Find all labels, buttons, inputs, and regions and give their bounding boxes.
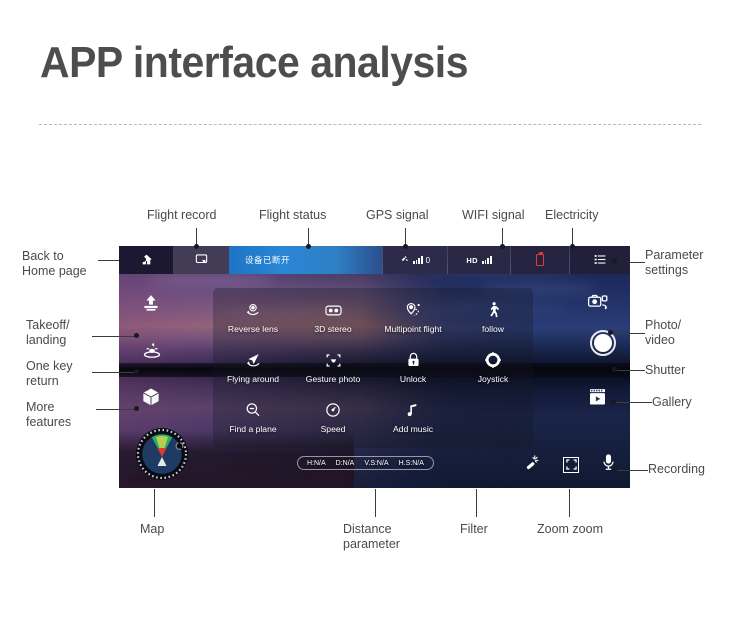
list-settings-icon <box>593 253 607 268</box>
annotation-electricity: Electricity <box>545 208 598 223</box>
annotation-distance-parameter: Distance parameter <box>343 522 400 552</box>
gps-signal-indicator: 0 <box>383 246 447 274</box>
flight-status-bar: 设备已断开 <box>229 246 382 274</box>
feature-label: Reverse lens <box>228 324 278 334</box>
feature-multipoint-flight[interactable]: Multipoint flight <box>373 299 453 349</box>
home-button[interactable] <box>119 246 173 274</box>
annotation-gps-signal: GPS signal <box>366 208 429 223</box>
gallery-button[interactable] <box>587 387 608 412</box>
feature-label: follow <box>482 324 504 334</box>
feature-label: Multipoint flight <box>384 324 441 334</box>
battery-empty-icon <box>536 254 544 266</box>
zoom-button[interactable] <box>563 457 579 473</box>
leader-dot <box>613 467 618 472</box>
feature-unlock[interactable]: Unlock <box>373 349 453 399</box>
recording-button[interactable] <box>601 453 616 476</box>
app-screen: 设备已断开 0 HD <box>119 246 630 488</box>
leader-line <box>154 489 155 517</box>
leader-line <box>476 489 477 517</box>
leader-dot <box>194 244 199 249</box>
reverse-lens-icon <box>244 299 262 321</box>
map-radar[interactable] <box>134 426 190 482</box>
feature-3d-stereo[interactable]: 3D stereo <box>293 299 373 349</box>
feature-label: Speed <box>321 424 346 434</box>
leader-line <box>616 470 648 471</box>
feature-add-music[interactable]: Add music <box>373 399 453 449</box>
leader-dot <box>570 244 575 249</box>
leader-dot <box>611 399 616 404</box>
annotation-wifi-signal: WIFI signal <box>462 208 525 223</box>
feature-label: Joystick <box>478 374 509 384</box>
speedometer-icon <box>324 399 342 421</box>
feature-flying-around[interactable]: Flying around <box>213 349 293 399</box>
annotation-flight-status: Flight status <box>259 208 326 223</box>
flight-status-text: 设备已断开 <box>245 254 290 266</box>
leader-dot <box>612 259 617 264</box>
leader-dot <box>608 330 613 335</box>
annotation-shutter: Shutter <box>645 363 685 378</box>
annotation-photo-video: Photo/ video <box>645 318 681 348</box>
annotation-gallery: Gallery <box>652 395 692 410</box>
annotation-map: Map <box>140 522 164 537</box>
annotation-filter: Filter <box>460 522 488 537</box>
distance-h: H:N/A <box>307 460 326 467</box>
distance-d: D:N/A <box>336 460 355 467</box>
leader-dot <box>612 367 617 372</box>
feature-row: Reverse lens 3D stereo <box>213 299 533 349</box>
flight-record-icon <box>195 253 208 268</box>
takeoff-landing-button[interactable] <box>141 293 161 318</box>
waypoint-pin-icon <box>404 299 423 321</box>
top-status-bar: 设备已断开 0 HD <box>119 246 630 274</box>
annotation-one-key-return: One key return <box>26 359 73 389</box>
orbit-paperplane-icon <box>244 349 263 371</box>
leader-line <box>569 489 570 517</box>
feature-joystick[interactable]: Joystick <box>453 349 533 399</box>
joystick-ring-icon <box>484 349 502 371</box>
page-title: APP interface analysis <box>40 38 468 88</box>
magnifier-minus-icon <box>244 399 262 421</box>
annotation-takeoff-landing: Takeoff/ landing <box>26 318 70 348</box>
feature-label: 3D stereo <box>314 324 351 334</box>
vr-goggles-icon <box>324 299 343 321</box>
feature-row: Find a plane Speed Add music <box>213 399 533 449</box>
feature-label: Flying around <box>227 374 279 384</box>
leader-dot <box>500 244 505 249</box>
feature-find-a-plane[interactable]: Find a plane <box>213 399 293 449</box>
annotation-flight-record: Flight record <box>147 208 216 223</box>
feature-follow[interactable]: follow <box>453 299 533 349</box>
annotation-recording: Recording <box>648 462 705 477</box>
gps-bars <box>413 256 423 264</box>
feature-empty <box>453 399 533 449</box>
distance-hs: H.S:N/A <box>399 460 424 467</box>
leader-line <box>615 370 645 371</box>
more-features-button[interactable] <box>141 387 161 412</box>
battery-indicator <box>511 246 569 274</box>
radar-compass-icon <box>134 426 190 482</box>
cloud <box>145 275 275 285</box>
wifi-bars <box>482 256 492 264</box>
distance-parameter-bar: H:N/A D:N/A V.S:N/A H.S:N/A <box>297 456 434 470</box>
feature-row: Flying around Gesture photo <box>213 349 533 399</box>
satellite-icon <box>400 254 410 266</box>
feature-gesture-photo[interactable]: Gesture photo <box>293 349 373 399</box>
camera-switch-icon <box>587 293 608 317</box>
filter-button[interactable] <box>524 454 541 476</box>
flight-record-button[interactable] <box>173 246 229 274</box>
leader-dot <box>134 333 139 338</box>
feature-label: Unlock <box>400 374 426 384</box>
annotation-zoom-zoom: Zoom zoom <box>537 522 603 537</box>
feature-reverse-lens[interactable]: Reverse lens <box>213 299 293 349</box>
bottom-control-bar <box>524 453 616 476</box>
one-key-return-button[interactable] <box>141 340 163 365</box>
annotation-parameter-settings: Parameter settings <box>645 248 703 278</box>
leader-line <box>92 336 138 337</box>
feature-speed[interactable]: Speed <box>293 399 373 449</box>
feature-overlay-panel: Reverse lens 3D stereo <box>213 288 533 448</box>
leader-dot <box>306 244 311 249</box>
padlock-icon <box>405 349 422 371</box>
parameter-settings-button[interactable] <box>570 246 630 274</box>
wifi-hd-label: HD <box>466 256 477 265</box>
title-divider <box>39 124 701 125</box>
return-home-icon <box>141 340 163 365</box>
leader-line <box>375 489 376 517</box>
leader-dot <box>134 406 139 411</box>
gesture-frame-icon <box>324 349 343 371</box>
feature-label: Find a plane <box>229 424 276 434</box>
feature-label: Gesture photo <box>306 374 360 384</box>
wifi-signal-indicator: HD <box>448 246 510 274</box>
annotation-back-home: Back to Home page <box>22 249 87 279</box>
gps-count: 0 <box>426 256 430 265</box>
leader-dot <box>141 257 146 262</box>
leader-dot <box>134 369 139 374</box>
walking-person-icon <box>484 299 502 321</box>
leader-line <box>96 409 138 410</box>
takeoff-landing-icon <box>141 293 161 318</box>
cube-icon <box>141 387 161 412</box>
feature-label: Add music <box>393 424 433 434</box>
distance-vs: V.S:N/A <box>364 460 388 467</box>
photo-video-toggle-button[interactable] <box>587 293 608 317</box>
leader-line <box>612 333 645 334</box>
film-gallery-icon <box>587 387 608 412</box>
leader-line <box>614 402 652 403</box>
leader-dot <box>403 244 408 249</box>
music-note-icon <box>405 399 421 421</box>
leader-line <box>92 372 138 373</box>
annotation-more-features: More features <box>26 400 71 430</box>
